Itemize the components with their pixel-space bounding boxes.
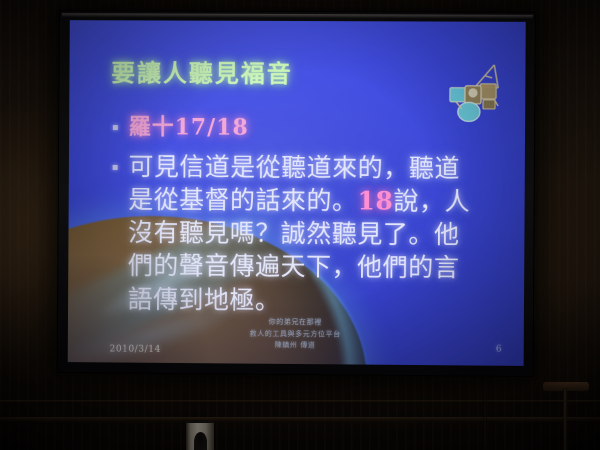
- slide-bullet-list: 羅十17/18 可見信道是從聽道來的，聽道是從基督的話來的。18說，人沒有聽見嗎…: [112, 114, 513, 318]
- presentation-slide: 要讓人聽見福音 羅十17/18 可見信道是從聽道來的，聽道是從基督的話來的。18…: [68, 20, 526, 366]
- bullet-item-scripture: 可見信道是從聽道來的，聽道是從基督的話來的。18說，人沒有聽見嗎？誠然聽見了。他…: [112, 149, 513, 318]
- frame-highlight: [62, 13, 533, 19]
- bullet-scripture-text: 可見信道是從聽道來的，聽道是從基督的話來的。18說，人沒有聽見嗎？誠然聽見了。他…: [128, 150, 484, 319]
- floor-speaker: [186, 421, 214, 450]
- slide-title: 要讓人聽見福音: [111, 53, 293, 89]
- side-table-leg: [563, 388, 567, 450]
- bullet-item-reference: 羅十17/18: [113, 114, 513, 144]
- bullet-reference-text: 羅十17/18: [129, 114, 249, 142]
- slide-date: 2010/3/14: [110, 344, 161, 354]
- scripture-verse-number: 18: [357, 186, 393, 215]
- bullet-square-icon: [113, 164, 118, 169]
- wall-trim-rail: [0, 417, 600, 423]
- slide-page-number: 6: [496, 345, 502, 355]
- bullet-square-icon: [113, 125, 118, 130]
- projection-screen-frame: 要讓人聽見福音 羅十17/18 可見信道是從聽道來的，聽道是從基督的話來的。18…: [57, 10, 536, 377]
- speaker-port: [194, 432, 207, 450]
- wall-trim-upper: [0, 400, 600, 403]
